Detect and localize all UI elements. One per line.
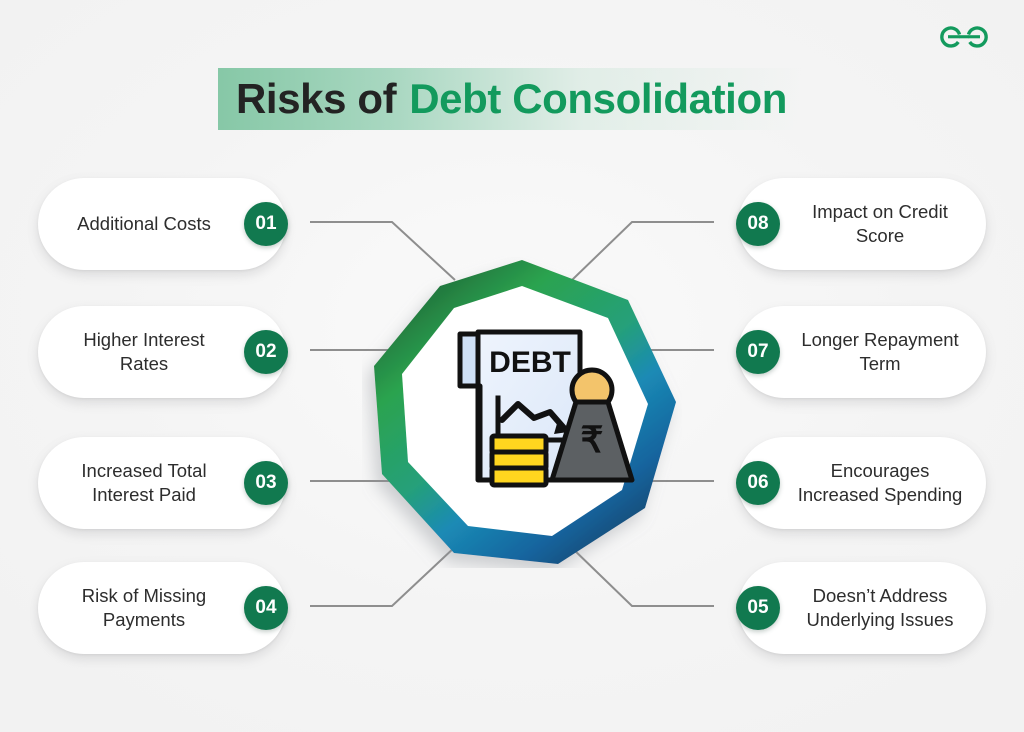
list-item[interactable]: Increased Total Interest Paid 03 xyxy=(38,437,286,529)
list-item-label: Longer Repayment Term xyxy=(796,328,964,375)
status-badge: 06 xyxy=(736,461,780,505)
list-item-label: Additional Costs xyxy=(60,212,228,236)
debt-label: DEBT xyxy=(489,346,571,379)
list-item[interactable]: Higher Interest Rates 02 xyxy=(38,306,286,398)
center-emblem: DEBT ₹ xyxy=(362,256,682,568)
list-item-label: Risk of Missing Payments xyxy=(60,584,228,631)
status-badge: 01 xyxy=(244,202,288,246)
list-item-label: Increased Total Interest Paid xyxy=(60,459,228,506)
list-item[interactable]: 05 Doesn’t Address Underlying Issues xyxy=(738,562,986,654)
status-badge: 03 xyxy=(244,461,288,505)
list-item[interactable]: Risk of Missing Payments 04 xyxy=(38,562,286,654)
list-item-label: Impact on Credit Score xyxy=(796,200,964,247)
list-item[interactable]: Additional Costs 01 xyxy=(38,178,286,270)
rupee-symbol: ₹ xyxy=(581,419,604,460)
list-item[interactable]: 07 Longer Repayment Term xyxy=(738,306,986,398)
infographic-canvas: Risks of Debt Consolidation xyxy=(0,0,1024,732)
status-badge: 08 xyxy=(736,202,780,246)
status-badge: 05 xyxy=(736,586,780,630)
list-item-label: Doesn’t Address Underlying Issues xyxy=(796,584,964,631)
coin-stack-icon xyxy=(492,436,546,485)
status-badge: 02 xyxy=(244,330,288,374)
list-item-label: Higher Interest Rates xyxy=(60,328,228,375)
status-badge: 04 xyxy=(244,586,288,630)
list-item-label: Encourages Increased Spending xyxy=(796,459,964,506)
list-item[interactable]: 06 Encourages Increased Spending xyxy=(738,437,986,529)
list-item[interactable]: 08 Impact on Credit Score xyxy=(738,178,986,270)
status-badge: 07 xyxy=(736,330,780,374)
